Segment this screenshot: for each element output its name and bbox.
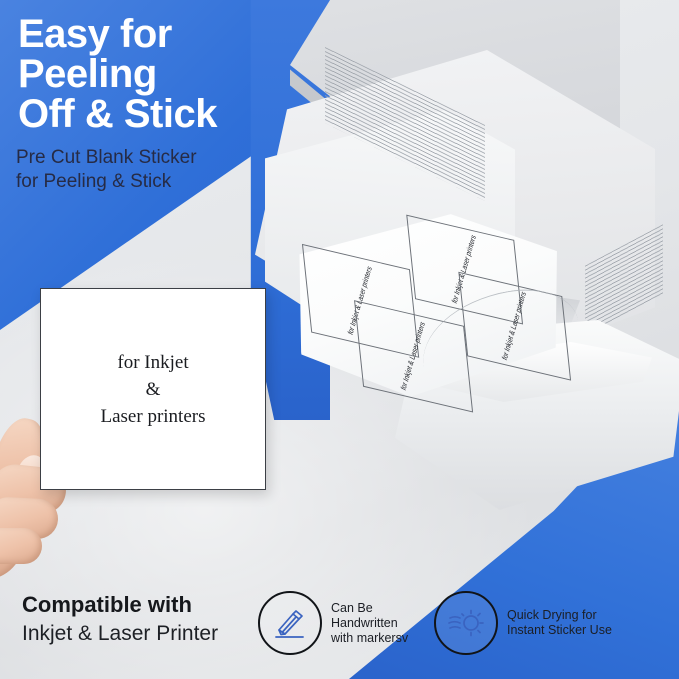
feature-text: Can Be Handwritten with markersv xyxy=(331,601,408,646)
finger-pinky xyxy=(0,528,42,564)
label-card: for Inkjet & Laser printers xyxy=(40,288,266,490)
feature-bar: Compatible with Inkjet & Laser Printer C… xyxy=(0,569,679,679)
compatibility-subtitle: Inkjet & Laser Printer xyxy=(22,619,218,649)
sun-drying-icon xyxy=(447,606,485,640)
pen-icon xyxy=(273,606,307,640)
feature-icon-circle xyxy=(434,591,498,655)
feature-line-1: Can Be xyxy=(331,601,408,616)
compatibility-title: Compatible with xyxy=(22,591,218,619)
headline-line-2: Peeling xyxy=(18,54,318,94)
feature-line-2: Handwritten xyxy=(331,616,408,631)
feature-handwritten: Can Be Handwritten with markersv xyxy=(258,591,408,655)
compatibility-block: Compatible with Inkjet & Laser Printer xyxy=(22,591,218,649)
product-marketing-image: for Inkjet & Laser printers for Inkjet &… xyxy=(0,0,679,679)
label-card-line-2: & xyxy=(101,376,206,403)
headline-line-3: Off & Stick xyxy=(18,94,318,134)
subheadline: Pre Cut Blank Sticker for Peeling & Stic… xyxy=(16,146,346,194)
label-card-text: for Inkjet & Laser printers xyxy=(101,349,206,430)
sticker-sheet: for Inkjet & Laser printers for Inkjet &… xyxy=(292,203,569,406)
feature-quick-drying: Quick Drying for Instant Sticker Use xyxy=(434,591,612,655)
feature-line-1: Quick Drying for xyxy=(507,608,612,623)
feature-line-3: with markersv xyxy=(331,631,408,646)
label-card-line-3: Laser printers xyxy=(101,403,206,430)
feature-text: Quick Drying for Instant Sticker Use xyxy=(507,608,612,638)
subheadline-line-2: for Peeling & Stick xyxy=(16,170,346,194)
subheadline-line-1: Pre Cut Blank Sticker xyxy=(16,146,346,170)
feature-icon-circle xyxy=(258,591,322,655)
feature-line-2: Instant Sticker Use xyxy=(507,623,612,638)
headline-line-1: Easy for xyxy=(18,14,318,54)
label-card-line-1: for Inkjet xyxy=(101,349,206,376)
headline: Easy for Peeling Off & Stick xyxy=(18,14,318,134)
